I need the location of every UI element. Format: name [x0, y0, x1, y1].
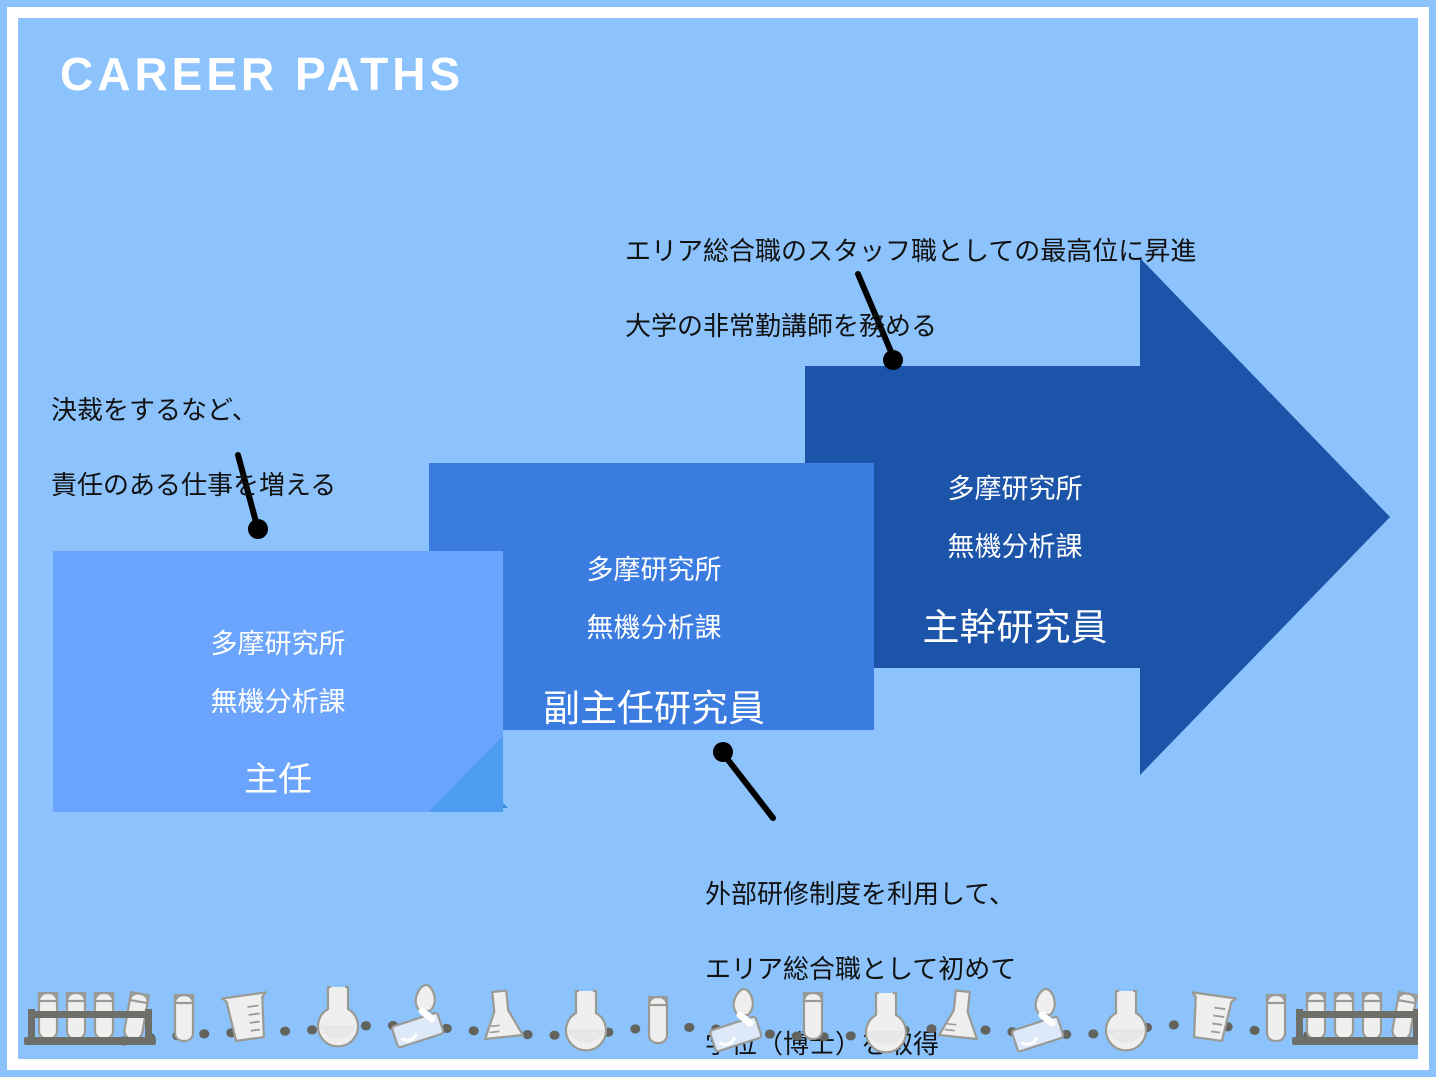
annotation-top: エリア総合職のスタッフ職としての最高位に昇進 大学の非常勤講師を務める — [625, 195, 1196, 383]
pipette-icon-3 — [1011, 989, 1063, 1052]
round-flask-icon-3 — [866, 993, 906, 1052]
beaker-icon-2 — [1186, 992, 1236, 1042]
erlenmeyer-flask-icon-1 — [480, 989, 523, 1039]
annotation-left-line2: 責任のある仕事を増える — [51, 467, 336, 505]
test-tube-icon-3 — [804, 993, 822, 1039]
rack-icon-right — [1292, 992, 1418, 1045]
stage-3-department-line1: 多摩研究所 — [805, 471, 1225, 507]
test-tube-icon-4 — [1267, 995, 1285, 1041]
annotation-left: 決裁をするなど、 責任のある仕事を増える — [51, 354, 336, 542]
stage-1-position-title: 主任 — [53, 758, 503, 804]
stage-3-department-line2: 無機分析課 — [805, 529, 1225, 565]
round-flask-icon-1 — [318, 987, 358, 1046]
annotation-top-line2: 大学の非常勤講師を務める — [625, 308, 1196, 346]
pipette-icon-1 — [391, 985, 443, 1048]
annotation-top-line1: エリア総合職のスタッフ職としての最高位に昇進 — [625, 233, 1196, 271]
round-flask-icon-2 — [566, 991, 606, 1050]
annotation-left-line1: 決裁をするなど、 — [51, 392, 336, 430]
rack-icon-left — [24, 992, 156, 1045]
test-tube-icon-2 — [649, 997, 667, 1043]
stage-3-label: 多摩研究所 無機分析課 主幹研究員 — [805, 450, 1225, 674]
stage-2-position-title: 副主任研究員 — [429, 684, 879, 734]
pipette-icon-2 — [709, 989, 761, 1052]
stage-3-position-title: 主幹研究員 — [805, 603, 1225, 653]
slide-content-panel: CAREER PATHS 多摩研究所 無機分析課 主任 — [18, 18, 1418, 1059]
test-tube-icon-1 — [175, 995, 193, 1041]
round-flask-icon-4 — [1106, 991, 1146, 1050]
career-paths-slide: CAREER PATHS 多摩研究所 無機分析課 主任 — [0, 0, 1436, 1077]
laboratory-glassware-strip — [18, 969, 1418, 1059]
annotation-bottom-line1: 外部研修制度を利用して、 — [705, 876, 1016, 914]
page-title: CAREER PATHS — [60, 51, 464, 97]
erlenmeyer-flask-icon-2 — [939, 989, 982, 1039]
